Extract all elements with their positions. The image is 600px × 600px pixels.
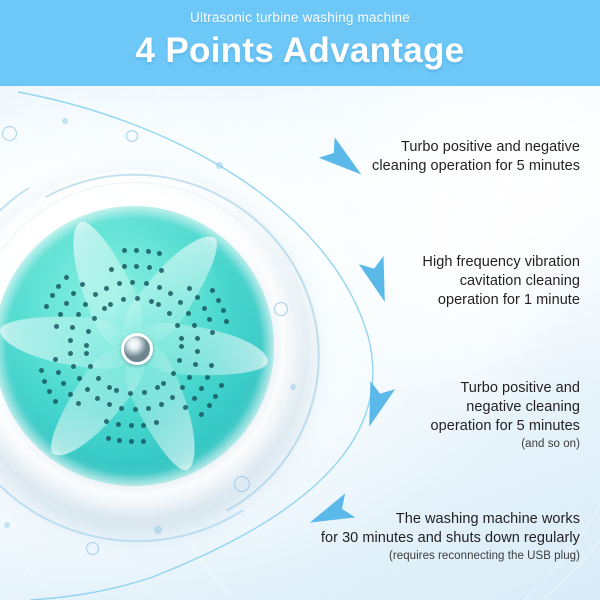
callout-1-line-2: cleaning operation for 5 minutes xyxy=(372,158,580,174)
turbine-dot xyxy=(117,438,122,443)
turbine-dot xyxy=(195,336,200,341)
turbine-dot xyxy=(130,280,135,285)
turbine-dot xyxy=(192,323,197,328)
turbine-dot xyxy=(129,439,134,444)
water-droplet-4 xyxy=(126,130,138,142)
turbine-dot xyxy=(167,311,172,316)
turbine-dot xyxy=(170,395,175,400)
turbine-dot xyxy=(147,265,152,270)
turbine-dot xyxy=(210,288,215,293)
turbine-dot xyxy=(187,286,192,291)
turbine-dot xyxy=(146,406,151,411)
turbine-dot xyxy=(56,284,61,289)
water-droplet-2 xyxy=(2,126,17,141)
turbine-dot xyxy=(193,362,198,367)
callout-point-3: Turbo positive and negative cleaning ope… xyxy=(300,379,580,453)
turbine-dot xyxy=(156,302,161,307)
turbine-dot xyxy=(44,304,49,309)
turbine-dot xyxy=(202,306,207,311)
callout-point-2: High frequency vibration cavitation clea… xyxy=(300,253,580,310)
turbine-dot xyxy=(133,407,138,412)
turbine-dot xyxy=(71,291,76,296)
poster-root: Ultrasonic turbine washing machine 4 Poi… xyxy=(0,0,600,600)
callout-3-note: (and so on) xyxy=(300,436,580,453)
turbine-dot xyxy=(119,406,124,411)
turbine-dot xyxy=(71,364,76,369)
water-droplet-9 xyxy=(154,526,162,534)
turbine-dot xyxy=(84,351,89,356)
callout-4-line-1: The washing machine works xyxy=(396,511,580,527)
turbine-dot xyxy=(64,275,69,280)
turbine-dot xyxy=(209,363,214,368)
turbine-dot xyxy=(157,251,162,256)
turbine-dot xyxy=(108,302,113,307)
turbine-dot xyxy=(141,423,146,428)
turbine-dot xyxy=(144,281,149,286)
callout-3-line-2: negative cleaning xyxy=(466,399,580,415)
turbine-dot xyxy=(83,302,88,307)
turbine-dot xyxy=(56,370,61,375)
turbine-dot xyxy=(207,403,212,408)
turbine-dot xyxy=(122,264,127,269)
water-droplet-11 xyxy=(4,522,10,528)
turbine-dot xyxy=(157,285,162,290)
illustration-stage: Turbo positive and negative cleaning ope… xyxy=(0,86,600,600)
washing-machine-device xyxy=(0,170,310,522)
water-droplet-3 xyxy=(62,118,68,124)
turbine-dot xyxy=(180,385,185,390)
turbine-dot xyxy=(216,298,221,303)
turbine-dot xyxy=(116,422,121,427)
turbine-dot xyxy=(121,297,126,302)
turbine-dot xyxy=(107,385,112,390)
turbine-dot xyxy=(171,371,176,376)
turbine-dot xyxy=(47,389,52,394)
header-subtitle: Ultrasonic turbine washing machine xyxy=(0,0,600,27)
turbine-dot xyxy=(159,402,164,407)
turbine-dot xyxy=(135,296,140,301)
turbine-dot xyxy=(64,301,69,306)
turbine-dot xyxy=(68,338,73,343)
turbine-dot xyxy=(68,392,73,397)
turbine-dot xyxy=(86,329,91,334)
turbine-dot xyxy=(122,248,127,253)
turbine-dot xyxy=(205,375,210,380)
turbine-dot xyxy=(149,299,154,304)
turbine-dot xyxy=(134,248,139,253)
water-droplet-10 xyxy=(86,542,99,555)
callout-2-line-2: cavitation cleaning xyxy=(460,273,580,289)
turbine-dot xyxy=(175,323,180,328)
turbine-dot xyxy=(95,396,100,401)
turbine-impeller xyxy=(0,206,274,486)
turbine-dot xyxy=(134,264,139,269)
callout-2-line-1: High frequency vibration xyxy=(422,254,580,270)
turbine-dot xyxy=(199,386,204,391)
turbine-dot xyxy=(85,387,90,392)
turbine-dot xyxy=(219,383,224,388)
turbine-dot xyxy=(213,394,218,399)
callout-point-1: Turbo positive and negative cleaning ope… xyxy=(300,138,580,176)
turbine-dot xyxy=(61,381,66,386)
turbine-dot xyxy=(195,295,200,300)
turbine-dot xyxy=(146,249,151,254)
turbine-hub xyxy=(121,333,153,365)
turbine-dot xyxy=(50,293,55,298)
water-droplet-5 xyxy=(216,162,223,169)
callout-3-line-1: Turbo positive and xyxy=(460,380,580,396)
turbine-dot xyxy=(106,436,111,441)
turbine-dot xyxy=(186,311,191,316)
turbine-dot xyxy=(107,402,112,407)
turbine-dot xyxy=(192,396,197,401)
turbine-dot xyxy=(104,419,109,424)
turbine-dot xyxy=(221,308,226,313)
turbine-dot xyxy=(76,401,81,406)
page-title: 4 Points Advantage xyxy=(0,27,600,73)
turbine-dot xyxy=(141,439,146,444)
turbine-dot xyxy=(183,405,188,410)
turbine-dot xyxy=(102,306,107,311)
turbine-dot xyxy=(199,412,204,417)
callout-point-4: The washing machine works for 30 minutes… xyxy=(280,510,580,565)
header-banner: Ultrasonic turbine washing machine 4 Poi… xyxy=(0,0,600,86)
turbine-dot xyxy=(42,379,47,384)
callout-1-line-1: Turbo positive and negative xyxy=(401,139,580,155)
callout-4-note: (requires reconnecting the USB plug) xyxy=(280,548,580,565)
turbine-dot xyxy=(53,399,58,404)
callout-4-line-2: for 30 minutes and shuts down regularly xyxy=(321,530,580,546)
turbine-dot xyxy=(84,343,89,348)
turbine-dot xyxy=(210,330,215,335)
turbine-dot xyxy=(129,423,134,428)
turbine-dot xyxy=(207,317,212,322)
turbine-dot xyxy=(187,375,192,380)
turbine-dot xyxy=(224,319,229,324)
callout-2-line-3: operation for 1 minute xyxy=(438,292,580,308)
callout-3-line-3: operation for 5 minutes xyxy=(431,418,580,434)
turbine-dot xyxy=(39,368,44,373)
